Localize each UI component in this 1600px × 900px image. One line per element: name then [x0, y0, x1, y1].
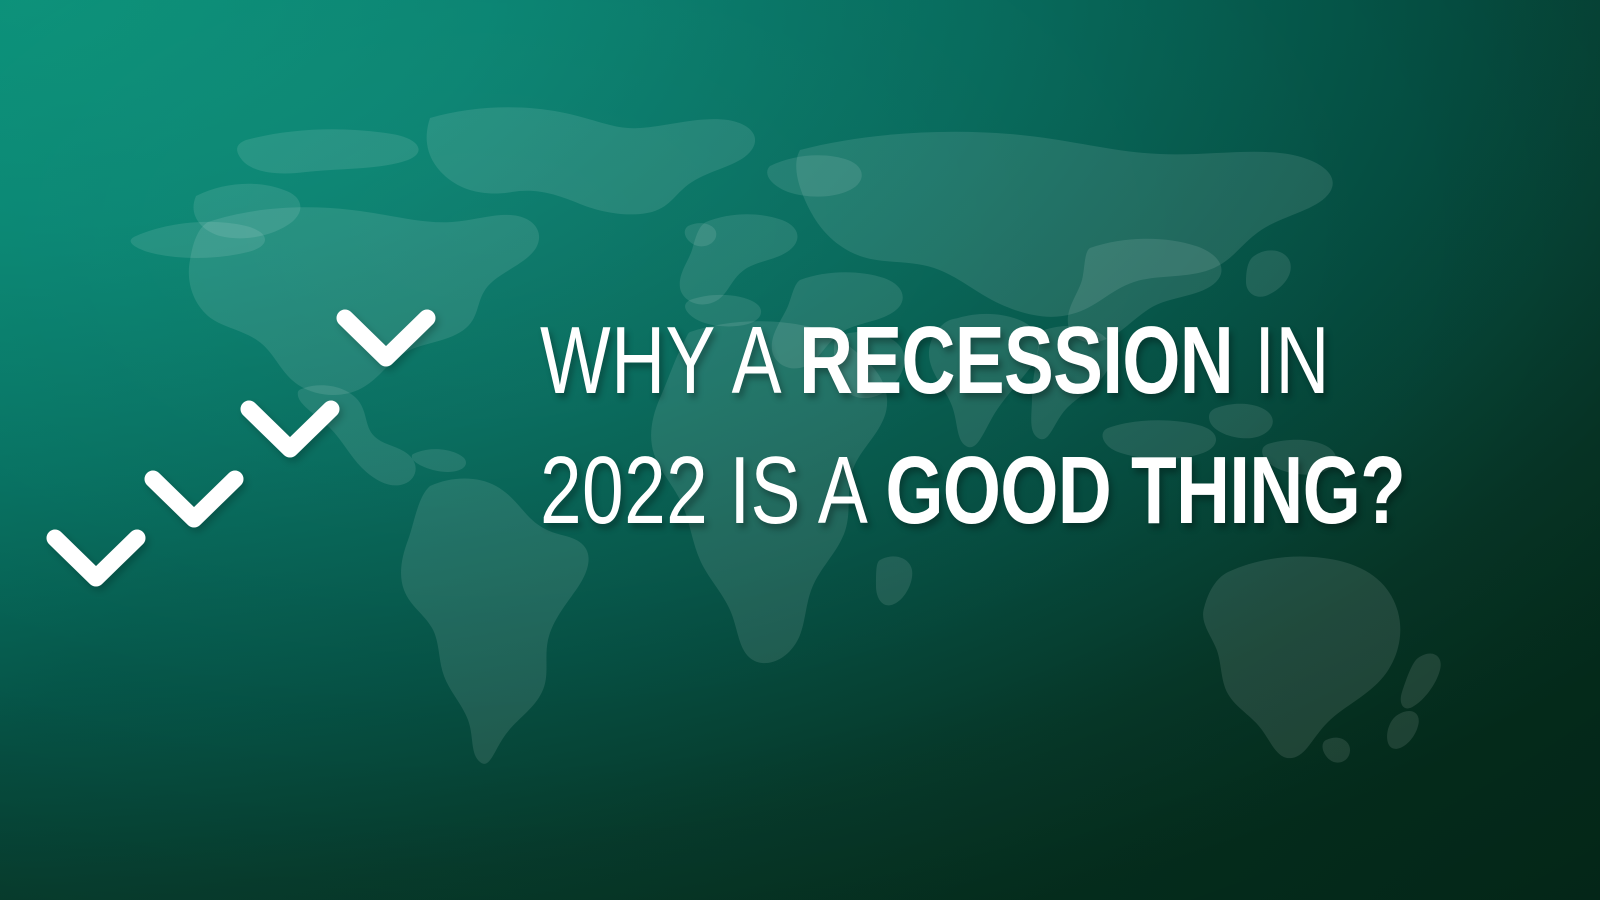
- headline-line-1-light-suffix: IN: [1233, 307, 1330, 414]
- poster-canvas: WHY A RECESSION IN 2022 IS A GOOD THING?: [0, 0, 1600, 900]
- down-arrow-4: [345, 0, 427, 358]
- headline-line-1-emphasis: RECESSION: [799, 307, 1233, 414]
- headline-line-1-light-prefix: WHY A: [540, 307, 799, 414]
- down-arrow-1: [55, 0, 137, 578]
- headline-line-2-emphasis: GOOD THING?: [885, 437, 1405, 544]
- down-arrow-3: [249, 0, 331, 449]
- down-arrow-2: [153, 0, 235, 519]
- headline-line-2: 2022 IS A GOOD THING?: [540, 426, 1304, 556]
- headline-line-1: WHY A RECESSION IN: [540, 296, 1304, 426]
- headline: WHY A RECESSION IN 2022 IS A GOOD THING?: [540, 296, 1520, 556]
- headline-line-2-light-prefix: 2022 IS A: [540, 437, 885, 544]
